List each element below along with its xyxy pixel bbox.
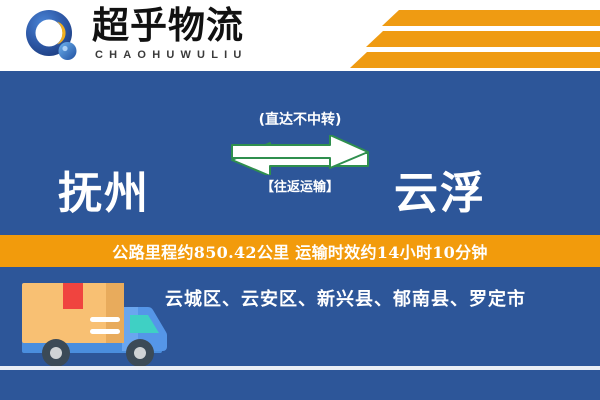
route-note-bottom: 【往返运输】	[224, 179, 376, 197]
road-line-icon	[0, 366, 600, 370]
distance-duration-text: 公路里程约850.42公里 运输时效约14小时10分钟	[112, 239, 487, 263]
stripe-2-icon	[366, 31, 600, 47]
stripe-1-icon	[382, 10, 600, 26]
route-panel: 抚州 (直达不中转) 【往返运输】 云浮	[0, 71, 600, 235]
stripe-3-icon	[350, 52, 600, 68]
decorative-stripes	[350, 0, 600, 71]
double-arrow-icon	[224, 135, 376, 175]
info-bar: 公路里程约850.42公里 运输时效约14小时10分钟	[0, 235, 600, 267]
route-note-top: (直达不中转)	[224, 111, 376, 129]
coverage-section: 云城区、云安区、新兴县、郁南县、罗定市	[0, 267, 600, 400]
header: 超乎物流 CHAOHUWULIU	[0, 0, 600, 71]
delivery-truck-icon	[18, 275, 178, 373]
brand-text: 超乎物流 CHAOHUWULIU	[92, 6, 248, 62]
route-middle: (直达不中转) 【往返运输】	[224, 111, 376, 197]
origin-city: 抚州	[58, 157, 150, 221]
coverage-areas-text: 云城区、云安区、新兴县、郁南县、罗定市	[165, 285, 526, 311]
destination-city: 云浮	[394, 157, 486, 221]
logistics-route-banner: 超乎物流 CHAOHUWULIU 抚州 (直达不中转) 【往返运输】 云浮 公路…	[0, 0, 600, 400]
brand-name-en: CHAOHUWULIU	[92, 48, 248, 62]
brand-logo-icon	[24, 9, 80, 65]
brand-name-cn: 超乎物流	[92, 6, 248, 46]
